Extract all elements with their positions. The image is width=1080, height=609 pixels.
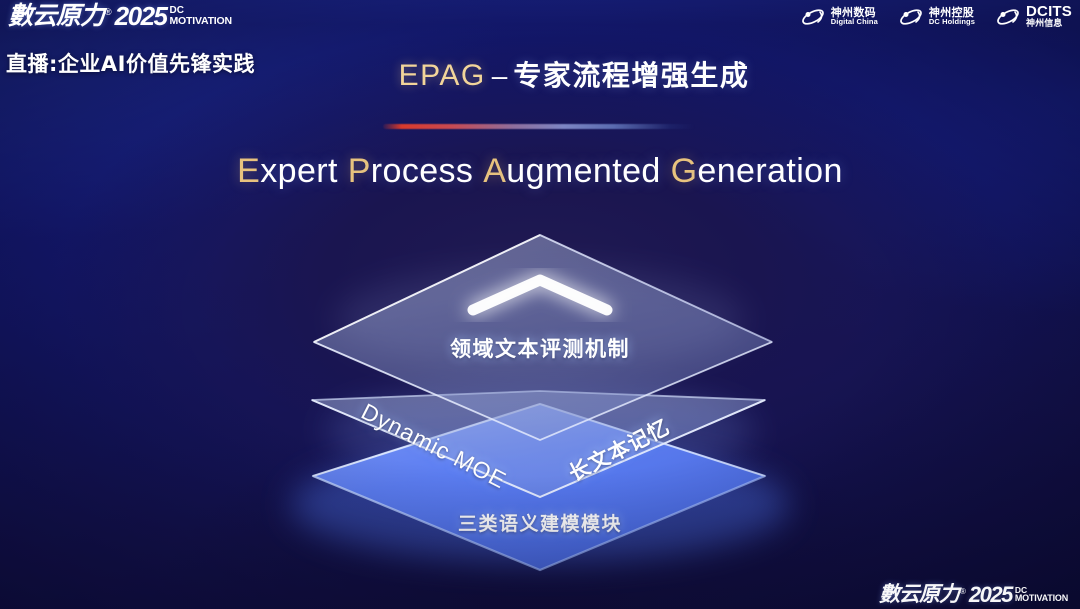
subtitle-rest-generation: eneration (697, 152, 842, 190)
watermark-chinese: 數云原力 (879, 584, 959, 605)
partner-name-en: 神州信息 (1026, 20, 1072, 29)
partner-name-en: DC Holdings (929, 18, 975, 26)
page-subtitle: Expert Process Augmented Generation (0, 152, 1080, 191)
brand-motivation-text: MOTIVATION (170, 16, 232, 26)
brand-logo-year: 2025 (115, 3, 167, 29)
swirl-icon (800, 6, 826, 28)
watermark-dc-motivation: DC MOTIVATION (1015, 586, 1068, 603)
subtitle-cap-e: E (237, 152, 260, 190)
brand-registered-mark: ® (105, 7, 112, 17)
partner-name-en: Digital China (831, 18, 878, 26)
page-title: EPAG–专家流程增强生成 (0, 54, 1080, 94)
brand-logo-chinese: 數云原力 (8, 3, 104, 28)
layer-label-bottom: 三类语义建模模块 (0, 509, 1080, 536)
watermark-motivation-text: MOTIVATION (1015, 594, 1068, 603)
partner-logo-digital-china: 神州数码 Digital China (800, 6, 878, 28)
slide-root: 领域文本评测机制 Dynamic MOE 长文本记忆 三类语义建模模块 數云原力… (0, 0, 1080, 609)
footer-watermark-logo: 數云原力 ® 2025 DC MOTIVATION (879, 583, 1068, 605)
brand-logo: 數云原力 ® 2025 DC MOTIVATION (8, 2, 232, 28)
brand-logo-dc-motivation: DC MOTIVATION (170, 6, 232, 26)
page-title-chinese: 专家流程增强生成 (513, 59, 749, 92)
partner-logo-dcits: DCITS 神州信息 (995, 4, 1072, 29)
page-title-dash: – (492, 60, 508, 91)
title-divider (383, 124, 695, 129)
subtitle-rest-augmented: ugmented (506, 152, 660, 190)
partner-logo-bar: 神州数码 Digital China 神州控股 DC Holdings (800, 4, 1072, 29)
subtitle-rest-expert: xpert (260, 152, 338, 190)
layer-label-top: 领域文本评测机制 (0, 333, 1080, 363)
subtitle-cap-g: G (671, 152, 698, 190)
page-title-acronym: EPAG (399, 59, 486, 92)
partner-name-cn: DCITS (1026, 4, 1072, 20)
subtitle-cap-a: A (483, 152, 506, 190)
subtitle-rest-process: rocess (371, 152, 474, 190)
watermark-year: 2025 (969, 584, 1012, 606)
watermark-registered-mark: ® (960, 587, 966, 596)
swirl-icon (995, 6, 1021, 28)
subtitle-cap-p: P (348, 152, 371, 190)
partner-logo-dc-holdings: 神州控股 DC Holdings (898, 6, 975, 28)
swirl-icon (898, 6, 924, 28)
